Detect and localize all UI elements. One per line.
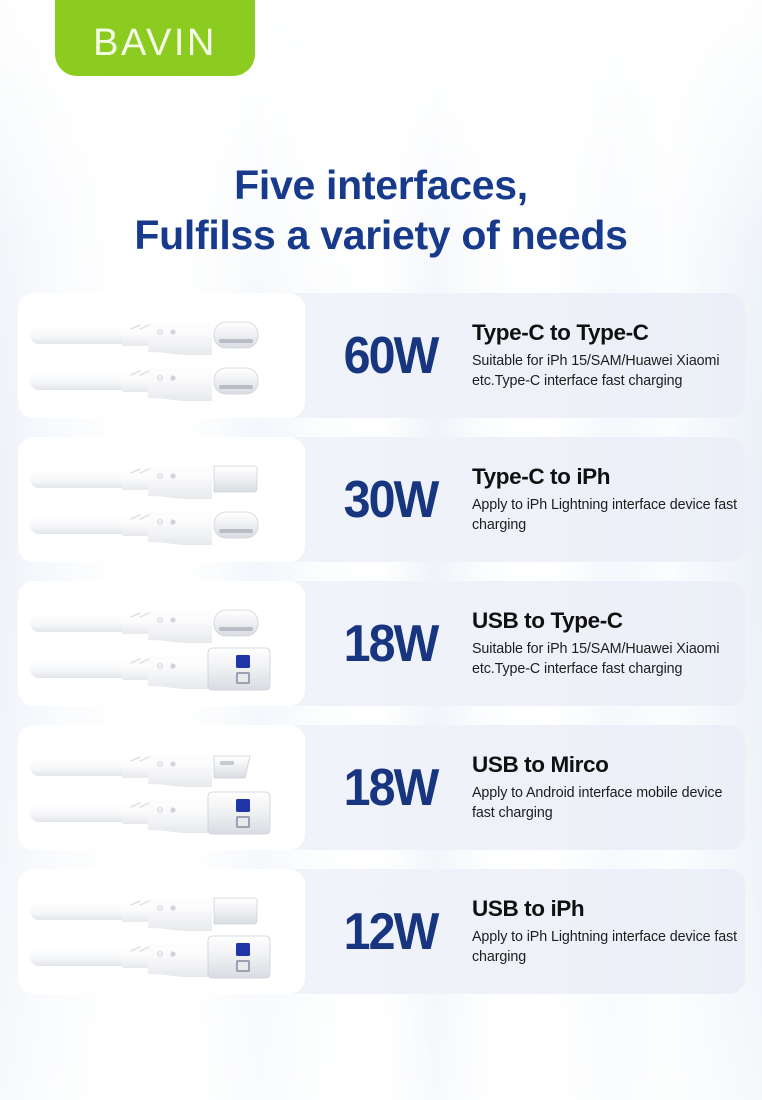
variant-title: USB to Type-C xyxy=(472,608,747,634)
variant-title: Type-C to Type-C xyxy=(472,320,747,346)
wattage-value: 60W xyxy=(323,293,458,418)
headline-line-1: Five interfaces, xyxy=(234,162,528,208)
cable-image-card xyxy=(18,725,305,850)
variant-text-block: USB to Type-C Suitable for iPh 15/SAM/Hu… xyxy=(472,581,747,706)
variant-text-block: Type-C to Type-C Suitable for iPh 15/SAM… xyxy=(472,293,747,418)
variant-description: Apply to iPh Lightning interface device … xyxy=(472,495,747,536)
wattage-value: 18W xyxy=(323,725,458,850)
product-variant-row: 60W Type-C to Type-C Suitable for iPh 15… xyxy=(0,293,762,418)
variant-text-block: Type-C to iPh Apply to iPh Lightning int… xyxy=(472,437,747,562)
variant-description: Apply to Android interface mobile device… xyxy=(472,783,747,824)
page-headline: Five interfaces, Fulfilss a variety of n… xyxy=(0,160,762,260)
variant-title: USB to Mirco xyxy=(472,752,747,778)
cable-image-card xyxy=(18,437,305,562)
variant-title: Type-C to iPh xyxy=(472,464,747,490)
variant-description: Suitable for iPh 15/SAM/Huawei Xiaomi et… xyxy=(472,639,747,680)
product-variant-row: 18W USB to Type-C Suitable for iPh 15/SA… xyxy=(0,581,762,706)
variant-text-block: USB to iPh Apply to iPh Lightning interf… xyxy=(472,869,747,994)
wattage-value: 18W xyxy=(323,581,458,706)
product-variant-row: 12W USB to iPh Apply to iPh Lightning in… xyxy=(0,869,762,994)
product-variant-row: 18W USB to Mirco Apply to Android interf… xyxy=(0,725,762,850)
brand-logo-text: BAVIN xyxy=(93,24,217,62)
wattage-value: 12W xyxy=(323,869,458,994)
headline-line-2: Fulfilss a variety of needs xyxy=(0,210,762,260)
product-variant-row: 30W Type-C to iPh Apply to iPh Lightning… xyxy=(0,437,762,562)
variant-description: Suitable for iPh 15/SAM/Huawei Xiaomi et… xyxy=(472,351,747,392)
product-variant-list: 60W Type-C to Type-C Suitable for iPh 15… xyxy=(0,293,762,1013)
variant-text-block: USB to Mirco Apply to Android interface … xyxy=(472,725,747,850)
wattage-value: 30W xyxy=(323,437,458,562)
cable-image-card xyxy=(18,293,305,418)
variant-title: USB to iPh xyxy=(472,896,747,922)
variant-description: Apply to iPh Lightning interface device … xyxy=(472,927,747,968)
cable-image-card xyxy=(18,869,305,994)
brand-logo: BAVIN xyxy=(55,0,255,76)
cable-image-card xyxy=(18,581,305,706)
